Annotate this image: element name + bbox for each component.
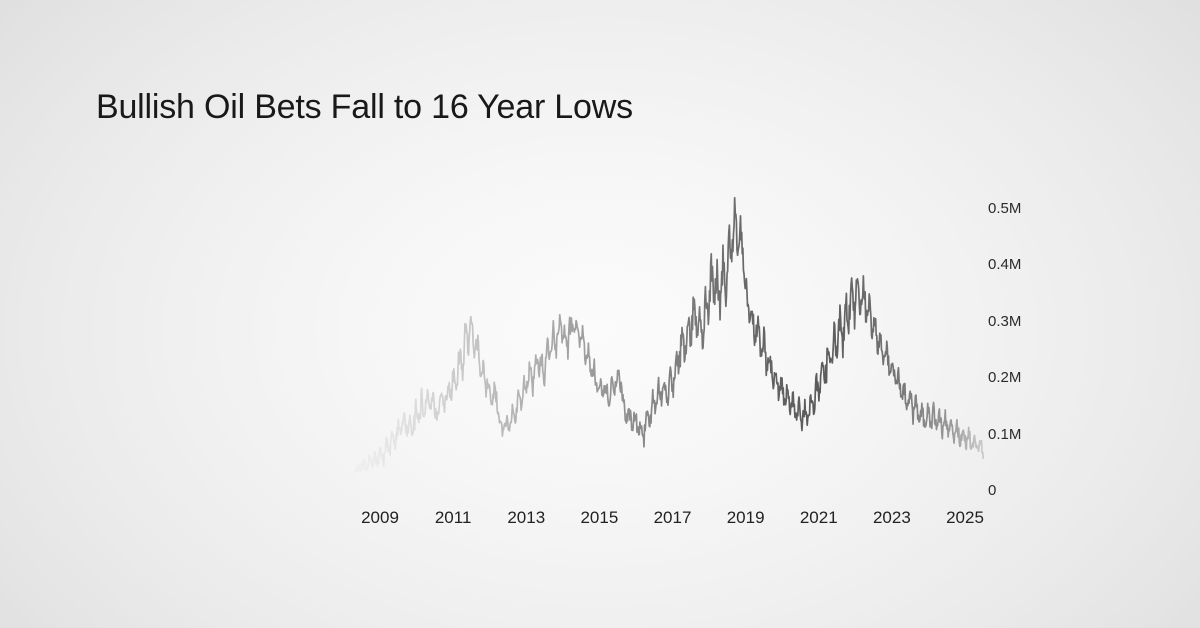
x-axis-tick-label: 2009 [361,508,399,528]
x-axis-tick-label: 2021 [800,508,838,528]
y-axis-tick-label: 0.1M [988,426,1021,443]
series-line-managed-money [354,198,983,473]
y-axis-tick-label: 0.3M [988,313,1021,330]
y-axis-tick-label: 0.5M [988,200,1021,217]
x-axis-tick-label: 2025 [946,508,984,528]
x-axis-tick-label: 2019 [727,508,765,528]
y-axis-tick-label: 0 [988,482,996,499]
chart-page: Bullish Oil Bets Fall to 16 Year Lows 00… [0,0,1200,628]
x-axis-tick-label: 2013 [507,508,545,528]
x-axis-tick-label: 2015 [580,508,618,528]
x-axis-tick-label: 2017 [654,508,692,528]
x-axis-tick-label: 2023 [873,508,911,528]
y-axis-tick-label: 0.4M [988,256,1021,273]
x-axis-tick-label: 2011 [435,508,472,528]
y-axis-tick-label: 0.2M [988,369,1021,386]
